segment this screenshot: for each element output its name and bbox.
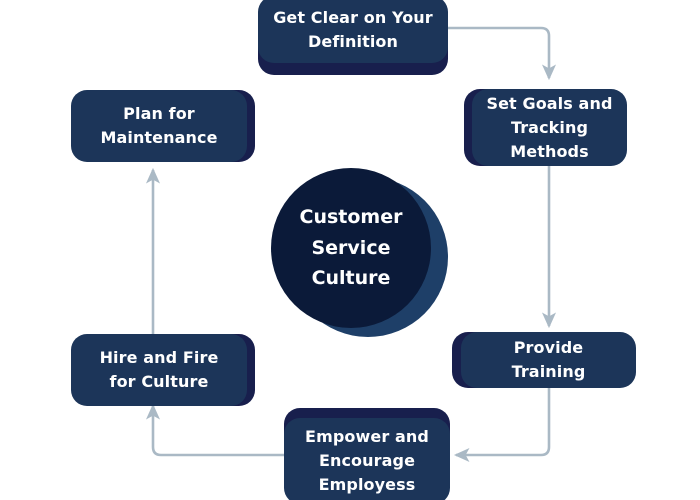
cycle-diagram: Customer Service Culture Get Clear on Yo…	[0, 0, 700, 500]
node-empower-and-encourage-employess[interactable]: Empower and Encourage Employess	[284, 418, 450, 500]
connector-empower-to-hire	[153, 406, 284, 455]
node-get-clear-on-your-definition[interactable]: Get Clear on Your Definition	[258, 0, 448, 63]
node-set-goals-and-tracking-methods[interactable]: Set Goals and Tracking Methods	[472, 89, 627, 166]
node-hire-and-fire-for-culture[interactable]: Hire and Fire for Culture	[71, 334, 247, 406]
node-maintenance-label: Plan for Maintenance	[100, 102, 217, 150]
node-plan-for-maintenance[interactable]: Plan for Maintenance	[71, 90, 247, 162]
center-node-label: Customer Service Culture	[300, 202, 403, 294]
node-training-label: Provide Training	[512, 336, 586, 384]
connector-definition-to-goals	[448, 28, 549, 78]
connector-training-to-empower	[456, 388, 549, 455]
node-goals-label: Set Goals and Tracking Methods	[486, 92, 612, 164]
node-definition-label: Get Clear on Your Definition	[273, 6, 433, 54]
center-node-customer-service-culture: Customer Service Culture	[271, 168, 431, 328]
node-empower-label: Empower and Encourage Employess	[305, 425, 429, 497]
node-provide-training[interactable]: Provide Training	[461, 332, 636, 388]
node-hire-label: Hire and Fire for Culture	[100, 346, 219, 394]
